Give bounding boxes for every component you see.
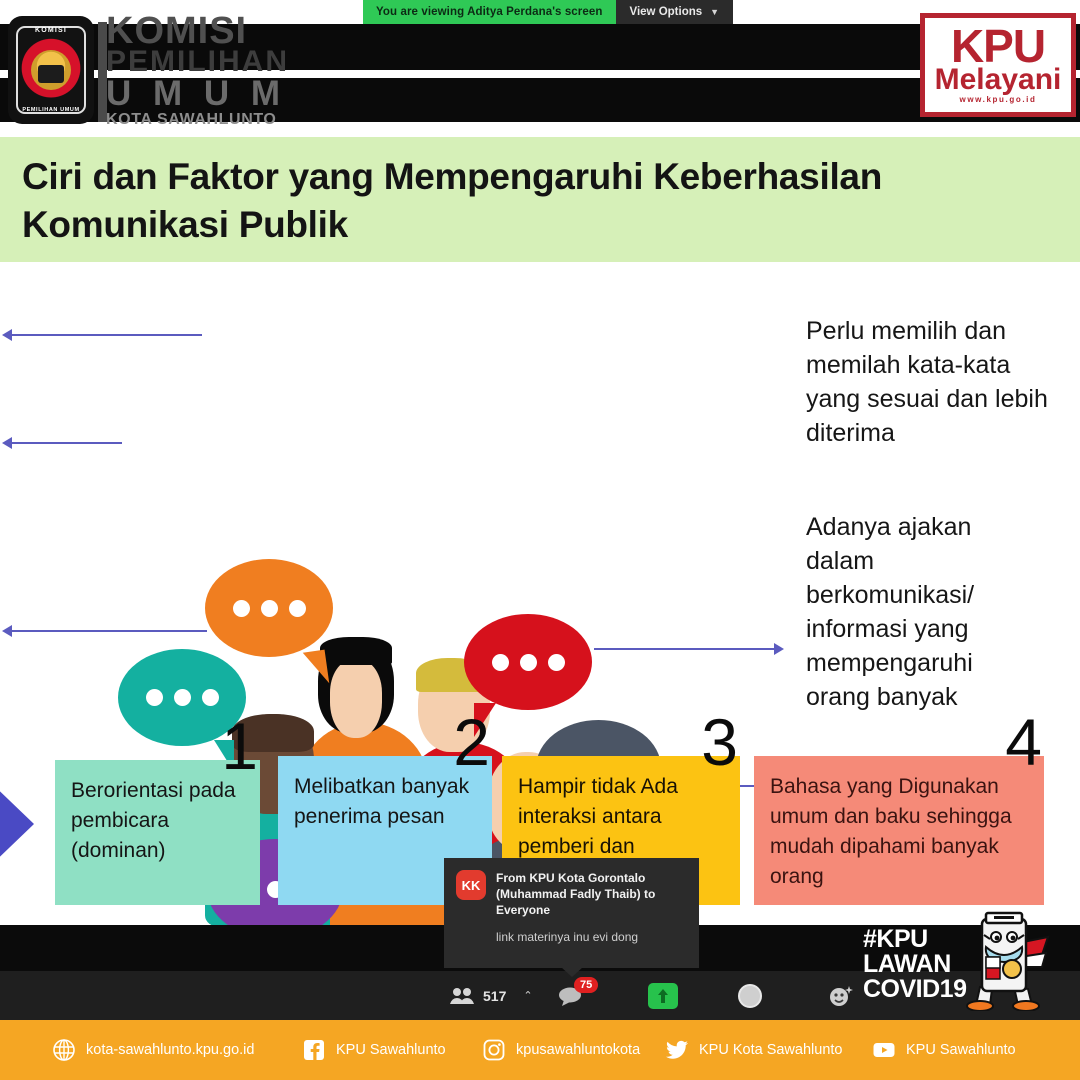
twitter-icon — [665, 1038, 689, 1062]
footer-item-twitter[interactable]: KPU Kota Sawahlunto — [665, 1038, 842, 1062]
reactions-icon — [828, 984, 854, 1008]
footer-item-facebook[interactable]: KPU Sawahlunto — [302, 1038, 446, 1062]
avatar: KK — [456, 870, 486, 900]
footer-label-website: kota-sawahlunto.kpu.go.id — [86, 1042, 254, 1058]
footer-item-youtube[interactable]: KPU Sawahlunto — [872, 1038, 1016, 1062]
chat-notification-popup[interactable]: KK From KPU Kota Gorontalo (Muhammad Fad… — [444, 858, 699, 968]
speech-bubble-orange — [205, 559, 333, 657]
emblem-top-label: KOMISI — [14, 27, 88, 34]
arrow-head-left-3 — [2, 625, 12, 637]
participants-icon — [450, 987, 476, 1005]
chat-message-text: link materinya inu evi dong — [496, 930, 687, 945]
social-footer-bar: kota-sawahlunto.kpu.go.id KPU Sawahlunto… — [0, 1020, 1080, 1080]
facebook-icon — [302, 1038, 326, 1062]
left-chevron-arrow — [0, 778, 34, 870]
connector-line-left-3 — [12, 630, 207, 632]
screen-share-view: KOMISI PEMILIHAN UMUM KOMISI PEMILIHAN U… — [0, 0, 1080, 1080]
connector-line-left-1 — [12, 334, 202, 336]
kpu-melayani-url: www.kpu.go.id — [960, 95, 1037, 104]
instagram-icon — [482, 1038, 506, 1062]
chat-button[interactable]: 75 — [558, 986, 584, 1006]
share-screen-icon — [656, 988, 670, 1004]
kpu-header-text: KOMISI PEMILIHAN U M U M KOTA SAWAHLUNTO — [106, 16, 289, 130]
callout-text-2: Adanya ajakan dalam berkomunikasi/ infor… — [806, 510, 1021, 714]
kpu-emblem-logo: KOMISI PEMILIHAN UMUM — [8, 16, 94, 124]
arrow-head-left-1 — [2, 329, 12, 341]
chat-sender-label: From KPU Kota Gorontalo (Muhammad Fadly … — [496, 870, 687, 918]
globe-icon — [52, 1038, 76, 1062]
chat-unread-badge: 75 — [574, 977, 598, 993]
covid-badge-line-2: LAWAN — [863, 952, 966, 977]
page-title: Ciri dan Faktor yang Mempengaruhi Keberh… — [22, 153, 1054, 249]
info-box-1: 1 Berorientasi pada pembicara (dominan) — [55, 760, 260, 905]
zoom-viewing-bar: You are viewing Aditya Perdana's screen … — [363, 0, 733, 24]
arrow-head-left-2 — [2, 437, 12, 449]
info-box-4-number: 4 — [1005, 712, 1042, 772]
info-box-1-text: Berorientasi pada pembicara (dominan) — [71, 776, 246, 866]
connector-line-left-2 — [12, 442, 122, 444]
chat-popup-tail — [561, 967, 583, 977]
participants-button[interactable]: 517 ⌃ — [450, 987, 533, 1005]
covid-badge-line-3: COVID19 — [863, 977, 966, 1002]
kpu-melayani-kpu-text: KPU — [951, 26, 1045, 66]
record-button[interactable] — [738, 984, 762, 1008]
header-line-umum: U M U M — [106, 77, 289, 110]
footer-item-instagram[interactable]: kpusawahluntokota — [482, 1038, 640, 1062]
covid-badge-line-1: #KPU — [863, 927, 966, 952]
header-line-kota: KOTA SAWAHLUNTO — [106, 110, 289, 130]
view-options-label: View Options — [630, 6, 703, 18]
info-box-2-number: 2 — [453, 712, 490, 772]
view-options-button[interactable]: View Options ▼ — [616, 0, 734, 24]
covid-badge-text: #KPU LAWAN COVID19 — [863, 927, 966, 1002]
emblem-bottom-label: PEMILIHAN UMUM — [14, 107, 88, 113]
callout-text-1: Perlu memilih dan memilah kata-kata yang… — [806, 314, 1051, 450]
footer-label-instagram: kpusawahluntokota — [516, 1042, 640, 1058]
viewing-screen-notice: You are viewing Aditya Perdana's screen — [363, 0, 616, 24]
info-box-1-number: 1 — [221, 716, 258, 776]
slide-illustration: Perlu memilih dan memilah kata-kata yang… — [0, 262, 1080, 732]
connector-line-right-1 — [594, 648, 774, 650]
footer-label-youtube: KPU Sawahlunto — [906, 1042, 1016, 1058]
participants-count: 517 — [483, 988, 506, 1004]
kpu-lawan-covid-badge: #KPU LAWAN COVID19 — [855, 905, 1070, 1017]
chevron-up-icon[interactable]: ⌃ — [523, 989, 532, 1002]
header-line-pemilihan: PEMILIHAN — [106, 47, 289, 77]
info-box-3-number: 3 — [701, 712, 738, 772]
kpu-melayani-melayani-text: Melayani — [935, 66, 1062, 94]
youtube-icon — [872, 1038, 896, 1062]
info-box-4: 4 Bahasa yang Digunakan umum dan baku se… — [754, 756, 1044, 905]
kpu-melayani-logo: KPU Melayani www.kpu.go.id — [920, 13, 1076, 117]
info-box-3-text: Hampir tidak Ada interaksi antara pember… — [518, 772, 726, 862]
chevron-down-icon: ▼ — [710, 7, 719, 17]
info-box-2-text: Melibatkan banyak penerima pesan — [294, 772, 478, 832]
slide-title-banner: Ciri dan Faktor yang Mempengaruhi Keberh… — [0, 137, 1080, 262]
footer-label-twitter: KPU Kota Sawahlunto — [699, 1042, 842, 1058]
footer-label-facebook: KPU Sawahlunto — [336, 1042, 446, 1058]
speech-bubble-red — [464, 614, 592, 710]
share-screen-button[interactable] — [648, 983, 678, 1009]
arrow-head-right-1 — [774, 643, 784, 655]
footer-item-website[interactable]: kota-sawahlunto.kpu.go.id — [52, 1038, 254, 1062]
ballot-box-mascot-icon — [956, 907, 1052, 1011]
reactions-button[interactable] — [828, 984, 854, 1008]
info-box-4-text: Bahasa yang Digunakan umum dan baku sehi… — [770, 772, 1030, 892]
header-line-komisi: KOMISI — [106, 16, 289, 47]
